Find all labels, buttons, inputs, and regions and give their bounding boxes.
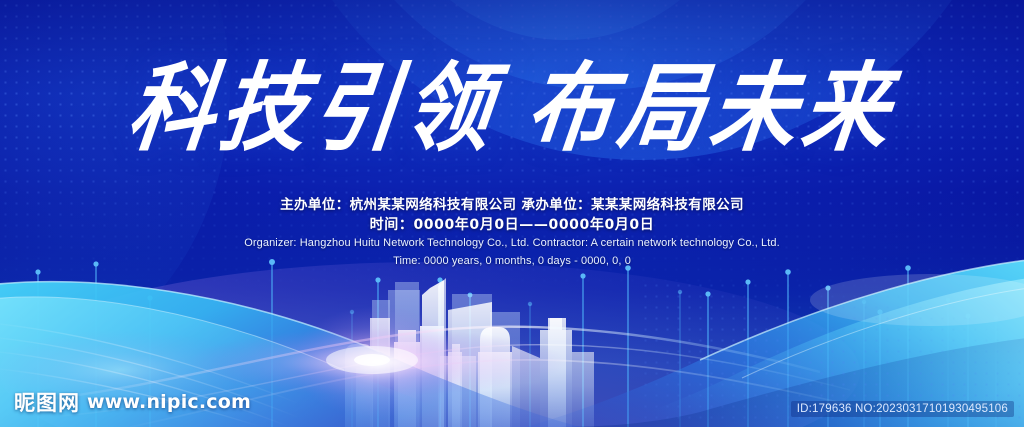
nipic-url[interactable]: www.nipic.com	[87, 391, 251, 413]
organizer-line-en: Organizer: Hangzhou Huitu Network Techno…	[0, 235, 1024, 252]
watermark-left[interactable]: 昵图网 www.nipic.com	[14, 387, 251, 417]
poster-canvas: 科技引领布局未来 主办单位：杭州某某网络科技有限公司 承办单位：某某某网络科技有…	[0, 0, 1024, 427]
watermark-id-code: ID:179636 NO:20230317101930495106	[791, 401, 1014, 417]
title-phrase-1: 科技引领	[122, 52, 504, 165]
time-line-cn: 时间：0000年0月0日——0000年0月0日	[0, 215, 1024, 235]
title-phrase-2: 布局未来	[520, 52, 902, 165]
meta-block: 主办单位：杭州某某网络科技有限公司 承办单位：某某某网络科技有限公司 时间：00…	[0, 196, 1024, 270]
title-block: 科技引领布局未来	[0, 66, 1024, 152]
organizer-line-cn: 主办单位：杭州某某网络科技有限公司 承办单位：某某某网络科技有限公司	[0, 196, 1024, 215]
page-title: 科技引领布局未来	[123, 61, 901, 157]
nipic-logo-cn: 昵图网	[14, 387, 80, 417]
time-line-en: Time: 0000 years, 0 months, 0 days - 000…	[0, 253, 1024, 270]
